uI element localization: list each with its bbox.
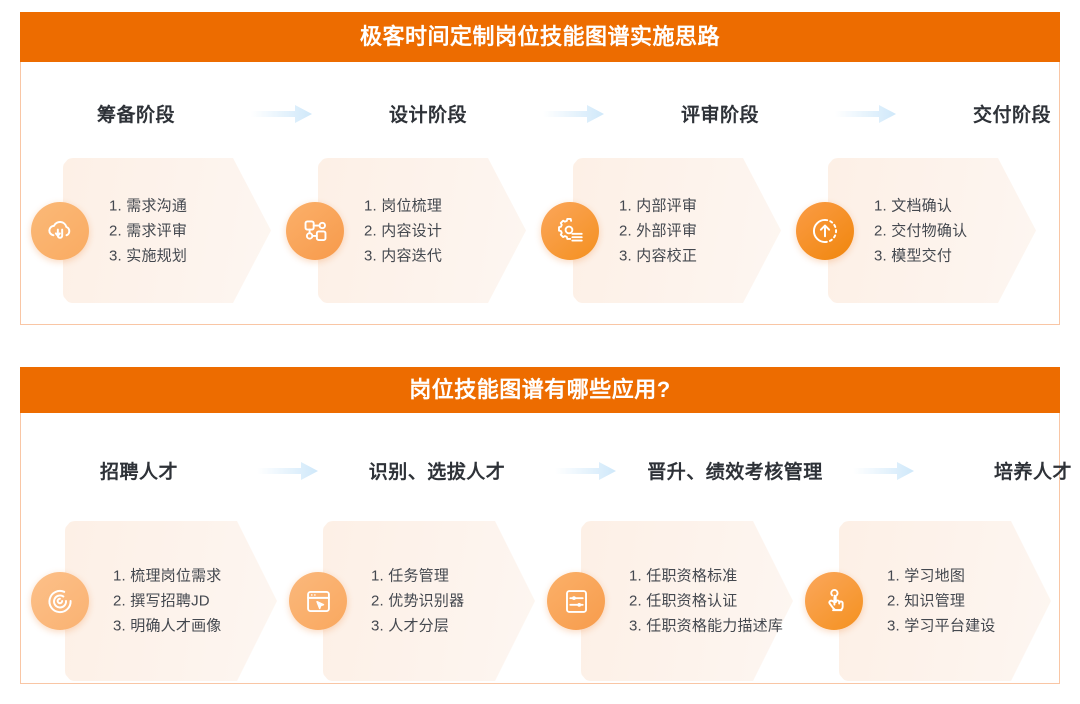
panel-implementation-title: 极客时间定制岗位技能图谱实施思路 xyxy=(360,26,720,48)
list-item: 3. 内容校正 xyxy=(619,243,779,268)
arrow-right-icon xyxy=(251,103,313,125)
stage-label-3: 晋升、绩效考核管理 xyxy=(617,457,853,484)
list-item: 3. 模型交付 xyxy=(874,243,1034,268)
card-list: 1. 学习地图 2. 知识管理 3. 学习平台建设 xyxy=(887,564,1051,639)
arrow-right-icon xyxy=(555,460,617,482)
infographic-page: 极客时间定制岗位技能图谱实施思路 筹备阶段 设计阶段 xyxy=(0,0,1080,704)
arrow-right-icon xyxy=(835,103,897,125)
application-stage-label-row: 招聘人才 识别、选拔人才 晋升、绩效考核管理 xyxy=(21,457,1059,484)
list-item: 1. 任务管理 xyxy=(371,564,535,589)
browser-cursor-icon xyxy=(289,572,347,630)
list-item: 1. 内部评审 xyxy=(619,193,779,218)
list-item: 3. 人才分层 xyxy=(371,614,535,639)
gear-list-icon xyxy=(541,202,599,260)
list-item: 2. 知识管理 xyxy=(887,589,1051,614)
application-card-identify: 1. 任务管理 2. 优势识别器 3. 人才分层 xyxy=(279,521,537,681)
list-item: 2. 内容设计 xyxy=(364,218,524,243)
card-list: 1. 文档确认 2. 交付物确认 3. 模型交付 xyxy=(874,193,1034,268)
arrow-right-icon xyxy=(853,460,915,482)
list-item: 1. 学习地图 xyxy=(887,564,1051,589)
hand-tap-icon xyxy=(805,572,863,630)
stage-label-4: 培养人才 xyxy=(915,457,1080,484)
stage-card-delivery: 1. 文档确认 2. 交付物确认 3. 模型交付 xyxy=(786,158,1041,303)
cloud-sync-icon xyxy=(31,202,89,260)
panel-implementation-header: 极客时间定制岗位技能图谱实施思路 xyxy=(20,12,1060,62)
list-item: 3. 明确人才画像 xyxy=(113,614,277,639)
stage-label-2: 识别、选拔人才 xyxy=(319,457,555,484)
upload-arrow-icon xyxy=(796,202,854,260)
panel-application-header: 岗位技能图谱有哪些应用? xyxy=(20,367,1060,413)
list-item: 2. 交付物确认 xyxy=(874,218,1034,243)
application-card-develop: 1. 学习地图 2. 知识管理 3. 学习平台建设 xyxy=(795,521,1053,681)
card-list: 1. 任职资格标准 2. 任职资格认证 3. 任职资格能力描述库 xyxy=(629,564,793,639)
list-item: 3. 学习平台建设 xyxy=(887,614,1051,639)
panel-implementation: 极客时间定制岗位技能图谱实施思路 筹备阶段 设计阶段 xyxy=(20,12,1060,325)
card-list: 1. 需求沟通 2. 需求评审 3. 实施规划 xyxy=(109,193,269,268)
stage-label-1: 筹备阶段 xyxy=(21,100,251,127)
node-graph-icon xyxy=(286,202,344,260)
list-item: 1. 梳理岗位需求 xyxy=(113,564,277,589)
stage-card-design: 1. 岗位梳理 2. 内容设计 3. 内容迭代 xyxy=(276,158,531,303)
card-list: 1. 岗位梳理 2. 内容设计 3. 内容迭代 xyxy=(364,193,524,268)
list-item: 1. 任职资格标准 xyxy=(629,564,793,589)
application-card-recruit: 1. 梳理岗位需求 2. 撰写招聘JD 3. 明确人才画像 xyxy=(21,521,279,681)
stage-label-3: 评审阶段 xyxy=(605,100,835,127)
panel-application: 岗位技能图谱有哪些应用? 招聘人才 识别、选拔人才 晋升、绩效考核管理 xyxy=(20,367,1060,684)
stage-label-2: 设计阶段 xyxy=(313,100,543,127)
list-item: 1. 需求沟通 xyxy=(109,193,269,218)
panel-application-body: 招聘人才 识别、选拔人才 晋升、绩效考核管理 xyxy=(21,413,1059,682)
list-item: 2. 任职资格认证 xyxy=(629,589,793,614)
sliders-panel-icon xyxy=(547,572,605,630)
stage-label-1: 招聘人才 xyxy=(21,457,257,484)
stage-card-preparation: 1. 需求沟通 2. 需求评审 3. 实施规划 xyxy=(21,158,276,303)
application-card-promotion: 1. 任职资格标准 2. 任职资格认证 3. 任职资格能力描述库 xyxy=(537,521,795,681)
list-item: 3. 任职资格能力描述库 xyxy=(629,614,793,639)
list-item: 2. 外部评审 xyxy=(619,218,779,243)
arrow-right-icon xyxy=(257,460,319,482)
spiral-target-icon xyxy=(31,572,89,630)
panel-implementation-body: 筹备阶段 设计阶段 评审阶段 xyxy=(21,62,1059,323)
application-card-row: 1. 梳理岗位需求 2. 撰写招聘JD 3. 明确人才画像 xyxy=(21,521,1059,681)
list-item: 2. 撰写招聘JD xyxy=(113,589,277,614)
stage-label-4: 交付阶段 xyxy=(897,100,1080,127)
card-list: 1. 任务管理 2. 优势识别器 3. 人才分层 xyxy=(371,564,535,639)
arrow-right-icon xyxy=(543,103,605,125)
list-item: 3. 实施规划 xyxy=(109,243,269,268)
panel-application-title: 岗位技能图谱有哪些应用? xyxy=(409,379,670,401)
list-item: 3. 内容迭代 xyxy=(364,243,524,268)
list-item: 1. 文档确认 xyxy=(874,193,1034,218)
list-item: 2. 需求评审 xyxy=(109,218,269,243)
card-list: 1. 内部评审 2. 外部评审 3. 内容校正 xyxy=(619,193,779,268)
list-item: 1. 岗位梳理 xyxy=(364,193,524,218)
implementation-stage-label-row: 筹备阶段 设计阶段 评审阶段 xyxy=(21,100,1059,127)
list-item: 2. 优势识别器 xyxy=(371,589,535,614)
stage-card-review: 1. 内部评审 2. 外部评审 3. 内容校正 xyxy=(531,158,786,303)
implementation-card-row: 1. 需求沟通 2. 需求评审 3. 实施规划 xyxy=(21,158,1059,303)
card-list: 1. 梳理岗位需求 2. 撰写招聘JD 3. 明确人才画像 xyxy=(113,564,277,639)
